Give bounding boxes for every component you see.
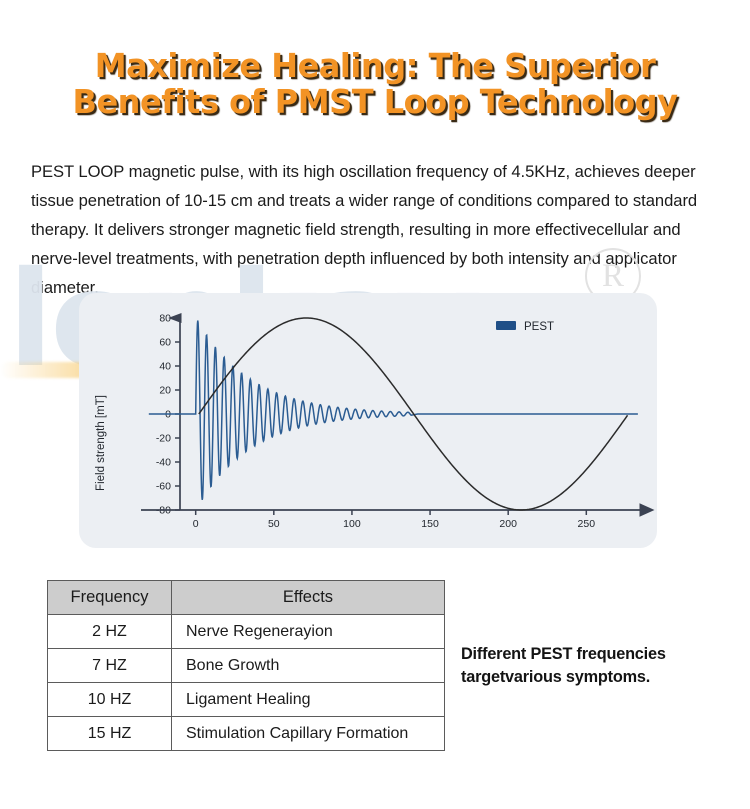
y-tick-label: -20 — [156, 433, 171, 445]
legend-swatch-pest — [496, 321, 516, 330]
table-cell-effect: Bone Growth — [172, 649, 445, 683]
table-header-row: Frequency Effects — [48, 581, 445, 615]
x-tick-label: 50 — [268, 518, 280, 530]
x-tick-label: 150 — [421, 518, 439, 530]
y-tick-label: 40 — [159, 361, 171, 373]
table-cell-effect: Stimulation Capillary Formation — [172, 717, 445, 751]
x-tick-label: 250 — [578, 518, 596, 530]
table-row: 2 HZNerve Regenerayion — [48, 615, 445, 649]
y-tick-label: 60 — [159, 337, 171, 349]
table-cell-effect: Nerve Regenerayion — [172, 615, 445, 649]
table-header-effects: Effects — [172, 581, 445, 615]
chart-panel: Field strength [mT] 806040200-20-40-60-8… — [79, 293, 657, 548]
table-row: 7 HZBone Growth — [48, 649, 445, 683]
page-title: Maximize Healing: The Superior Benefits … — [0, 48, 750, 120]
y-tick-label: 20 — [159, 385, 171, 397]
page-title-line-2: Benefits of PMST Loop Technology — [29, 84, 722, 120]
table-cell-frequency: 15 HZ — [48, 717, 172, 751]
table-caption-line-1: Different PEST frequencies — [461, 645, 666, 663]
y-tick-label: 80 — [159, 313, 171, 325]
table-row: 10 HZLigament Healing — [48, 683, 445, 717]
table-header-frequency: Frequency — [48, 581, 172, 615]
y-tick-label: -40 — [156, 457, 171, 469]
chart-legend: PEST — [496, 321, 554, 333]
table-caption: Different PEST frequencies targetvarious… — [461, 643, 731, 689]
intro-paragraph: PEST LOOP magnetic pulse, with its high … — [31, 157, 721, 302]
y-tick-label: -60 — [156, 481, 171, 493]
x-tick-label: 100 — [343, 518, 361, 530]
table-caption-line-2: targetvarious symptoms. — [461, 668, 650, 686]
table-cell-frequency: 10 HZ — [48, 683, 172, 717]
pest-waveform-line — [149, 321, 638, 500]
x-tick-label: 0 — [193, 518, 199, 530]
table-cell-frequency: 2 HZ — [48, 615, 172, 649]
page-title-line-1: Maximize Healing: The Superior — [29, 48, 722, 84]
table-row: 15 HZStimulation Capillary Formation — [48, 717, 445, 751]
x-axis-ticks: 050100150200250 — [193, 510, 595, 530]
table-cell-frequency: 7 HZ — [48, 649, 172, 683]
field-strength-chart: Field strength [mT] 806040200-20-40-60-8… — [79, 293, 657, 548]
table-cell-effect: Ligament Healing — [172, 683, 445, 717]
frequency-effects-table: Frequency Effects 2 HZNerve Regenerayion… — [47, 580, 445, 751]
y-axis-title: Field strength [mT] — [95, 395, 107, 491]
legend-label-pest: PEST — [524, 321, 554, 333]
x-tick-label: 200 — [499, 518, 517, 530]
